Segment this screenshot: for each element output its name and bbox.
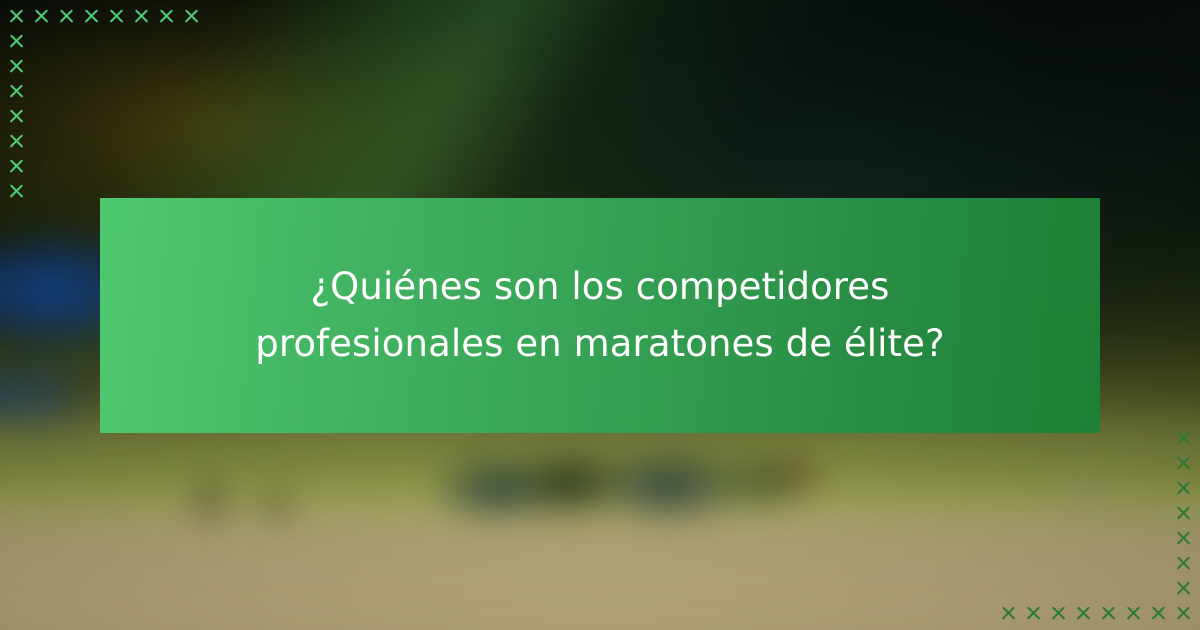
x-mark-icon xyxy=(1046,601,1071,626)
x-mark-icon xyxy=(104,4,129,29)
x-mark-icon xyxy=(4,104,29,129)
x-mark-icon xyxy=(1021,601,1046,626)
x-mark-icon xyxy=(1171,576,1196,601)
title-banner: ¿Quiénes son los competidores profesiona… xyxy=(100,198,1100,433)
x-mark-icon xyxy=(1171,501,1196,526)
x-mark-icon xyxy=(1171,551,1196,576)
x-mark-icon xyxy=(4,54,29,79)
x-mark-icon xyxy=(1171,476,1196,501)
x-mark-icon xyxy=(4,29,29,54)
x-mark-icon xyxy=(1121,601,1146,626)
x-mark-icon xyxy=(1071,601,1096,626)
x-mark-icon xyxy=(4,179,29,204)
x-mark-icon xyxy=(4,129,29,154)
x-pattern-bottom-right xyxy=(996,426,1196,626)
x-mark-icon xyxy=(1171,601,1196,626)
x-mark-icon xyxy=(29,4,54,29)
x-mark-icon xyxy=(1171,526,1196,551)
share-card: ¿Quiénes son los competidores profesiona… xyxy=(0,0,1200,630)
x-mark-icon xyxy=(4,4,29,29)
x-mark-icon xyxy=(1171,426,1196,451)
x-mark-icon xyxy=(1146,601,1171,626)
x-mark-icon xyxy=(79,4,104,29)
x-mark-icon xyxy=(1096,601,1121,626)
x-mark-icon xyxy=(129,4,154,29)
x-mark-icon xyxy=(154,4,179,29)
x-mark-icon xyxy=(996,601,1021,626)
x-mark-icon xyxy=(179,4,204,29)
x-mark-icon xyxy=(4,79,29,104)
x-mark-icon xyxy=(1171,451,1196,476)
x-mark-icon xyxy=(54,4,79,29)
x-mark-icon xyxy=(4,154,29,179)
x-pattern-top-left xyxy=(4,4,204,204)
page-title: ¿Quiénes son los competidores profesiona… xyxy=(200,259,1000,371)
